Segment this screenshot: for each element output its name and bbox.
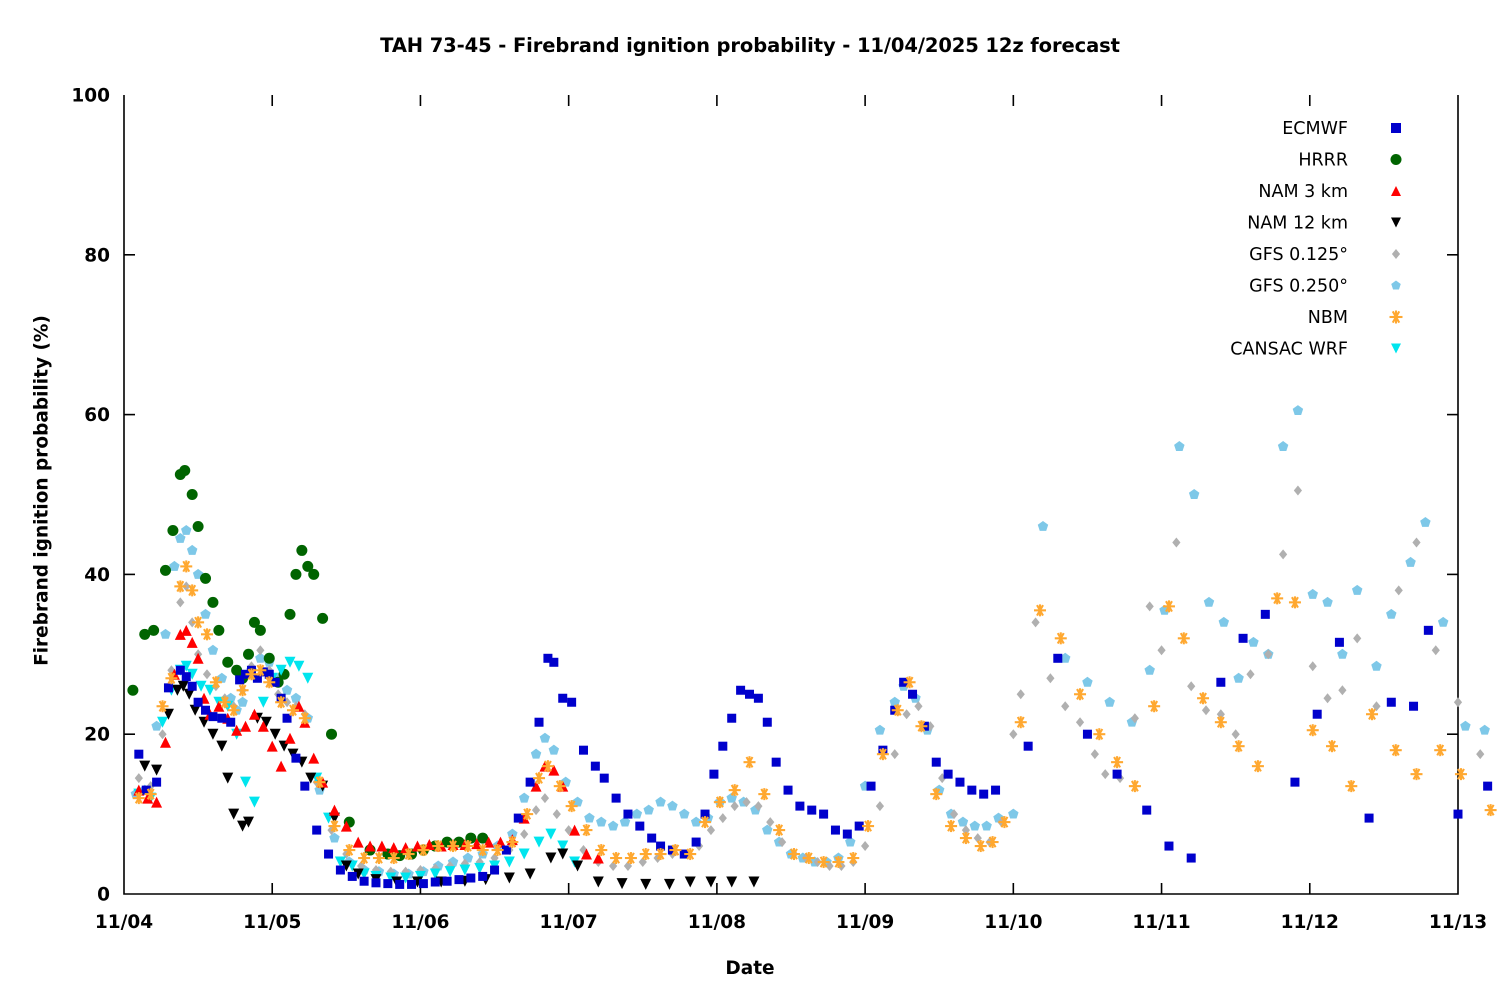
data-point <box>1164 842 1173 851</box>
data-point <box>222 657 233 668</box>
data-point <box>1289 596 1301 608</box>
data-point <box>596 817 606 827</box>
data-point <box>200 573 211 584</box>
data-point <box>580 824 592 836</box>
legend-marker-triangle-down-icon <box>1391 218 1401 228</box>
legend-label: ECMWF <box>1282 119 1348 139</box>
data-point <box>1083 730 1092 739</box>
data-point <box>1174 441 1184 451</box>
data-point <box>610 852 622 864</box>
legend-marker-diamond-icon <box>1392 249 1400 259</box>
data-point <box>1271 592 1283 604</box>
x-tick-label: 11/04 <box>95 912 153 933</box>
data-point <box>1390 744 1402 756</box>
data-point <box>181 625 192 636</box>
data-point <box>317 613 328 624</box>
data-point <box>207 729 218 740</box>
data-point <box>490 866 499 875</box>
data-point <box>285 657 296 668</box>
data-point <box>1031 617 1039 627</box>
data-point <box>203 669 211 679</box>
data-point <box>1352 585 1362 595</box>
data-point <box>1101 769 1109 779</box>
data-point <box>365 841 376 852</box>
data-point <box>160 565 171 576</box>
legend-label: NAM 3 km <box>1258 182 1348 202</box>
data-point <box>388 842 399 853</box>
data-point <box>1323 693 1331 703</box>
data-point <box>975 840 987 852</box>
data-point <box>914 701 922 711</box>
data-point <box>1293 405 1303 415</box>
data-point <box>1148 700 1160 712</box>
data-point <box>558 694 567 703</box>
data-point <box>1178 632 1190 644</box>
data-point <box>1142 806 1151 815</box>
data-point <box>264 653 275 664</box>
data-point <box>525 869 536 880</box>
data-point <box>1371 661 1381 671</box>
data-point <box>1024 742 1033 751</box>
data-point <box>640 879 651 890</box>
data-point <box>282 685 292 695</box>
data-point <box>240 721 251 732</box>
data-point <box>1061 701 1069 711</box>
data-point <box>300 782 309 791</box>
data-point <box>623 810 632 819</box>
data-point <box>807 806 816 815</box>
data-point <box>1424 626 1433 635</box>
data-point <box>1338 685 1346 695</box>
data-point <box>685 877 696 888</box>
data-point <box>726 877 737 888</box>
data-point <box>419 879 428 888</box>
data-point <box>1438 617 1448 627</box>
data-point <box>1454 810 1463 819</box>
data-point <box>1144 665 1154 675</box>
data-point <box>1091 749 1099 759</box>
data-point <box>567 698 576 707</box>
data-point <box>187 489 198 500</box>
data-point <box>1053 654 1062 663</box>
data-point <box>454 875 463 884</box>
data-point <box>584 813 594 823</box>
data-point <box>348 872 357 881</box>
data-point <box>1008 809 1018 819</box>
data-point <box>705 877 716 888</box>
y-tick-label: 40 <box>84 565 110 586</box>
data-point <box>182 672 191 681</box>
data-point <box>1129 780 1141 792</box>
data-point <box>773 824 785 836</box>
data-point <box>545 853 556 864</box>
data-point <box>991 786 1000 795</box>
data-point <box>1074 688 1086 700</box>
x-tick-label: 11/10 <box>984 912 1042 933</box>
data-point <box>395 880 404 889</box>
data-point <box>226 718 235 727</box>
data-point <box>847 852 859 864</box>
data-point <box>718 742 727 751</box>
legend-marker-square-icon <box>1391 123 1401 133</box>
data-point <box>1313 710 1322 719</box>
data-point <box>625 852 637 864</box>
data-point <box>1261 610 1270 619</box>
data-point <box>1353 633 1361 643</box>
data-point <box>960 832 972 844</box>
data-points-group <box>127 405 1496 890</box>
data-point <box>194 698 203 707</box>
series-cansac-wrf <box>133 657 580 884</box>
data-point <box>1434 744 1446 756</box>
data-point <box>290 569 301 580</box>
data-point <box>867 782 876 791</box>
data-point <box>709 770 718 779</box>
data-point <box>1454 697 1462 707</box>
data-point <box>1172 537 1180 547</box>
data-point <box>1017 689 1025 699</box>
data-point <box>312 826 321 835</box>
data-point <box>595 844 607 856</box>
data-point <box>679 809 689 819</box>
data-point <box>572 861 583 872</box>
legend-marker-triangle-down-icon <box>1391 344 1401 354</box>
data-point <box>258 697 269 708</box>
data-point <box>179 465 190 476</box>
data-point <box>1278 441 1288 451</box>
data-point <box>208 645 218 655</box>
data-point <box>981 821 991 831</box>
data-point <box>549 745 559 755</box>
data-point <box>237 684 249 696</box>
data-point <box>243 649 254 660</box>
data-point <box>1365 814 1374 823</box>
data-point <box>1386 609 1396 619</box>
data-point <box>743 756 755 768</box>
data-point <box>593 877 604 888</box>
data-point <box>534 837 545 848</box>
data-point <box>533 772 545 784</box>
data-point <box>1409 702 1418 711</box>
data-point <box>176 597 184 607</box>
x-tick-label: 11/06 <box>391 912 449 933</box>
data-point <box>1335 638 1344 647</box>
data-point <box>285 609 296 620</box>
data-point <box>1239 634 1248 643</box>
data-point <box>160 737 171 748</box>
data-point <box>758 788 770 800</box>
data-point <box>151 765 162 776</box>
data-point <box>1197 692 1209 704</box>
data-point <box>180 560 192 572</box>
data-point <box>208 712 217 721</box>
data-point <box>466 874 475 883</box>
data-point <box>270 729 281 740</box>
data-point <box>754 694 763 703</box>
data-point <box>1082 677 1092 687</box>
data-point <box>908 690 917 699</box>
data-point <box>1432 645 1440 655</box>
data-point <box>201 628 213 640</box>
data-point <box>531 749 541 759</box>
x-tick-label: 11/13 <box>1429 912 1487 933</box>
y-tick-label: 100 <box>71 86 110 107</box>
data-point <box>1248 637 1258 647</box>
data-point <box>431 878 440 887</box>
x-tick-label: 11/11 <box>1132 912 1190 933</box>
data-point <box>1485 804 1497 816</box>
data-point <box>478 872 487 881</box>
data-point <box>240 777 251 788</box>
data-point <box>1189 489 1199 499</box>
data-point <box>336 866 345 875</box>
data-point <box>213 625 224 636</box>
data-point <box>967 786 976 795</box>
data-point <box>579 746 588 755</box>
legend-marker-pentagon-icon <box>1391 281 1401 290</box>
data-point <box>903 709 911 719</box>
data-point <box>987 836 999 848</box>
data-point <box>1055 632 1067 644</box>
data-point <box>1410 768 1422 780</box>
data-point <box>862 820 874 832</box>
data-point <box>200 609 210 619</box>
data-point <box>545 829 556 840</box>
data-point <box>843 830 852 839</box>
data-point <box>748 877 759 888</box>
data-point <box>1460 721 1470 731</box>
data-point <box>727 714 736 723</box>
data-point <box>875 725 885 735</box>
data-point <box>276 761 287 772</box>
data-point <box>164 683 173 692</box>
data-point <box>256 645 264 655</box>
series-nam-3-km <box>133 625 603 864</box>
data-point <box>958 817 968 827</box>
data-point <box>249 797 260 808</box>
data-point <box>1387 698 1396 707</box>
data-point <box>667 801 677 811</box>
legend-marker-circle-icon <box>1391 154 1402 165</box>
data-point <box>549 658 558 667</box>
data-point <box>291 754 300 763</box>
data-point <box>1412 537 1420 547</box>
data-point <box>635 822 644 831</box>
chart-figure: TAH 73-45 - Firebrand ignition probabili… <box>0 0 1500 1000</box>
legend-label: HRRR <box>1298 151 1348 171</box>
data-point <box>1093 728 1105 740</box>
data-point <box>1202 705 1210 715</box>
data-point <box>383 879 392 888</box>
data-point <box>181 525 191 535</box>
y-tick-label: 60 <box>84 405 110 426</box>
data-point <box>1476 749 1484 759</box>
data-point <box>353 837 364 848</box>
data-point <box>891 749 899 759</box>
data-point <box>148 625 159 636</box>
y-tick-label: 20 <box>84 725 110 746</box>
data-point <box>763 718 772 727</box>
data-point <box>745 690 754 699</box>
data-point <box>540 733 550 743</box>
data-point <box>1157 645 1165 655</box>
data-point <box>324 850 333 859</box>
data-point <box>553 809 561 819</box>
chart-legend: ECMWFHRRRNAM 3 kmNAM 12 kmGFS 0.125°GFS … <box>1230 119 1402 360</box>
data-point <box>1337 649 1347 659</box>
data-point <box>861 841 869 851</box>
x-tick-label: 11/12 <box>1281 912 1339 933</box>
data-point <box>1326 740 1338 752</box>
data-point <box>945 820 957 832</box>
data-point <box>876 801 884 811</box>
data-point <box>308 753 319 764</box>
data-point <box>664 879 675 890</box>
data-point <box>360 877 369 886</box>
data-point <box>1233 673 1243 683</box>
data-point <box>1395 585 1403 595</box>
data-point <box>944 770 953 779</box>
legend-label: NBM <box>1308 308 1348 328</box>
data-point <box>532 805 540 815</box>
data-point <box>1219 617 1229 627</box>
legend-label: GFS 0.125° <box>1249 245 1348 265</box>
series-ecmwf <box>134 610 1492 889</box>
x-tick-label: 11/07 <box>540 912 598 933</box>
data-point <box>267 741 278 752</box>
data-point <box>1246 669 1254 679</box>
data-point <box>932 758 941 767</box>
data-point <box>216 741 227 752</box>
x-tick-label: 11/08 <box>688 912 746 933</box>
series-hrrr <box>127 465 488 861</box>
data-point <box>134 750 143 759</box>
legend-marker-triangle-up-icon <box>1391 186 1401 196</box>
data-point <box>1187 854 1196 863</box>
data-point <box>228 809 239 820</box>
data-point <box>1479 725 1489 735</box>
data-point <box>979 790 988 799</box>
data-point <box>1294 486 1302 496</box>
data-point <box>535 718 544 727</box>
data-point <box>188 682 197 691</box>
data-point <box>139 761 150 772</box>
y-tick-label: 0 <box>97 885 110 906</box>
data-point <box>1309 661 1317 671</box>
data-point <box>647 834 656 843</box>
data-point <box>1216 678 1225 687</box>
data-point <box>731 801 739 811</box>
data-point <box>193 521 204 532</box>
data-point <box>174 580 186 592</box>
data-point <box>407 880 416 889</box>
data-point <box>152 778 161 787</box>
data-point <box>1015 716 1027 728</box>
legend-label: NAM 12 km <box>1247 214 1348 234</box>
data-point <box>591 762 600 771</box>
data-point <box>1483 782 1492 791</box>
data-point <box>217 714 226 723</box>
data-point <box>541 793 549 803</box>
data-point <box>612 794 621 803</box>
legend-label: GFS 0.250° <box>1249 277 1348 297</box>
data-point <box>1290 778 1299 787</box>
data-point <box>135 773 143 783</box>
data-point <box>160 629 170 639</box>
data-point <box>819 810 828 819</box>
data-point <box>795 802 804 811</box>
data-point <box>326 729 337 740</box>
data-point <box>1252 760 1264 772</box>
data-point <box>831 826 840 835</box>
data-point <box>207 597 218 608</box>
data-point <box>504 857 515 868</box>
data-point <box>772 758 781 767</box>
data-point <box>1420 517 1430 527</box>
data-point <box>600 774 609 783</box>
data-point <box>376 841 387 852</box>
data-point <box>640 848 652 860</box>
data-point <box>1232 729 1240 739</box>
data-point <box>237 697 247 707</box>
data-point <box>955 778 964 787</box>
data-point <box>187 545 197 555</box>
data-point <box>187 637 198 648</box>
data-point <box>504 873 515 884</box>
data-point <box>520 829 528 839</box>
data-point <box>291 693 301 703</box>
data-point <box>1076 717 1084 727</box>
data-point <box>1146 601 1154 611</box>
data-point <box>1046 673 1054 683</box>
data-point <box>719 813 727 823</box>
data-point <box>970 821 980 831</box>
data-point <box>1308 589 1318 599</box>
series-nbm <box>133 560 1497 868</box>
data-point <box>714 796 726 808</box>
data-point <box>632 809 642 819</box>
data-point <box>557 849 568 860</box>
data-point <box>736 686 745 695</box>
data-point <box>1455 768 1467 780</box>
data-point <box>1104 697 1114 707</box>
legend-marker-asterisk-icon <box>1390 311 1403 324</box>
x-tick-label: 11/09 <box>836 912 894 933</box>
data-point <box>127 685 138 696</box>
data-point <box>692 838 701 847</box>
data-point <box>784 786 793 795</box>
legend-label: CANSAC WRF <box>1230 340 1348 360</box>
data-point <box>1215 716 1227 728</box>
data-point <box>371 878 380 887</box>
data-point <box>443 877 452 886</box>
data-point <box>1322 597 1332 607</box>
data-point <box>1204 597 1214 607</box>
data-point <box>1405 557 1415 567</box>
data-point <box>293 661 304 672</box>
data-point <box>1113 770 1122 779</box>
scatter-plot: 02040608010011/0411/0511/0611/0711/0811/… <box>0 0 1500 1000</box>
data-point <box>308 569 319 580</box>
data-point <box>1307 724 1319 736</box>
data-point <box>302 673 313 684</box>
y-tick-label: 80 <box>84 245 110 266</box>
data-point <box>255 625 266 636</box>
data-point <box>1111 756 1123 768</box>
data-point <box>1187 681 1195 691</box>
data-point <box>1009 729 1017 739</box>
x-tick-label: 11/05 <box>243 912 301 933</box>
